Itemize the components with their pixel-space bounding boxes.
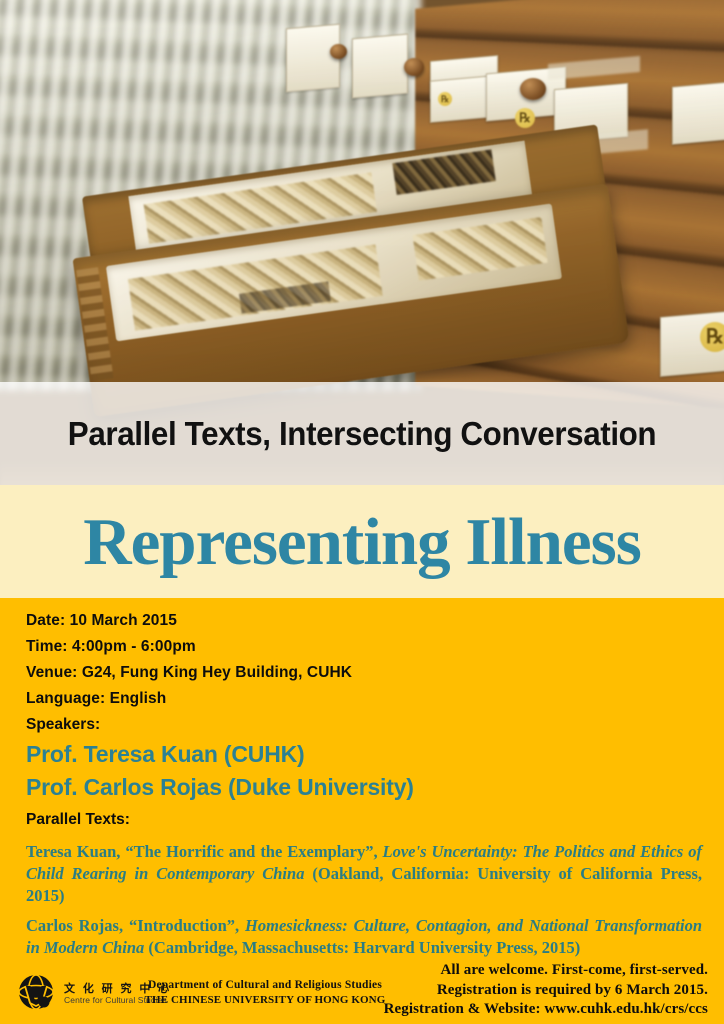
event-venue: Venue: G24, Fung King Hey Building, CUHK <box>26 660 706 686</box>
event-date: Date: 10 March 2015 <box>26 608 706 634</box>
speaker-name: Prof. Carlos Rojas (Duke University) <box>26 771 706 804</box>
speakers-label: Speakers: <box>26 712 706 738</box>
rx-sticker: ℞ <box>515 108 535 128</box>
university-name: THE CHINESE UNIVERSITY OF HONG KONG <box>140 993 390 1008</box>
poster-footer: 文 化 研 究 中 心 Centre for Cultural Studies … <box>0 966 724 1024</box>
department-name: Department of Cultural and Religious Stu… <box>140 978 390 993</box>
welcome-note: All are welcome. First-come, first-serve… <box>384 961 708 981</box>
registration-website[interactable]: Registration & Website: www.cuhk.edu.hk/… <box>384 1000 708 1020</box>
drawer-label <box>286 24 340 93</box>
drawer-knob <box>330 44 347 59</box>
parallel-texts-label: Parallel Texts: <box>26 806 706 833</box>
citation-author-title: Carlos Rojas, “Introduction”, <box>26 916 245 935</box>
registration-block: All are welcome. First-come, first-serve… <box>384 961 708 1020</box>
drawer-knob <box>520 78 546 100</box>
registration-deadline: Registration is required by 6 March 2015… <box>384 981 708 1001</box>
event-time: Time: 4:00pm - 6:00pm <box>26 634 706 660</box>
rx-sticker: ℞ <box>438 92 452 106</box>
series-title: Parallel Texts, Intersecting Conversatio… <box>18 382 706 485</box>
event-language: Language: English <box>26 686 706 712</box>
centre-for-cultural-studies-icon <box>14 972 58 1016</box>
speaker-name: Prof. Teresa Kuan (CUHK) <box>26 738 706 771</box>
rx-sticker: ℞ <box>700 322 724 352</box>
event-poster: ℞ ℞ ℞ Parallel Texts, Intersecting Conve… <box>0 0 724 1024</box>
citation-entry: Teresa Kuan, “The Horrific and the Exemp… <box>26 841 702 907</box>
page-title: Representing Illness <box>0 487 724 597</box>
event-details: Date: 10 March 2015 Time: 4:00pm - 6:00p… <box>26 608 706 959</box>
drawer-label <box>672 81 724 144</box>
citation-publisher: (Cambridge, Massachusetts: Harvard Unive… <box>144 938 580 957</box>
drawer-knob <box>404 58 424 76</box>
drawer-label <box>352 34 408 99</box>
citation-entry: Carlos Rojas, “Introduction”, Homesickne… <box>26 915 702 959</box>
department-block: Department of Cultural and Religious Stu… <box>140 978 390 1008</box>
citation-author-title: Teresa Kuan, “The Horrific and the Exemp… <box>26 842 383 861</box>
